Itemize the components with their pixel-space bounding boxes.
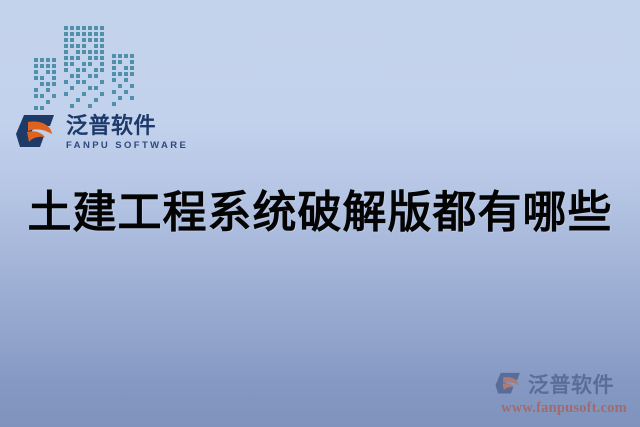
watermark-url: www.fanpusoft.com bbox=[494, 400, 634, 417]
fanpu-logo-mark-icon bbox=[14, 112, 60, 154]
promo-banner: 泛普软件 FANPU SOFTWARE 土建工程系统破解版都有哪些 泛普软件 w… bbox=[0, 0, 640, 427]
watermark: 泛普软件 www.fanpusoft.com bbox=[494, 369, 634, 417]
brand-name-en: FANPU SOFTWARE bbox=[66, 141, 188, 151]
pixel-building-skyline-icon bbox=[22, 14, 146, 114]
brand-name-cn: 泛普软件 bbox=[66, 115, 188, 137]
page-title: 土建工程系统破解版都有哪些 bbox=[0, 188, 640, 237]
fanpu-logo-mark-icon bbox=[494, 371, 524, 398]
brand-logo: 泛普软件 FANPU SOFTWARE bbox=[14, 112, 188, 154]
watermark-name: 泛普软件 bbox=[528, 369, 614, 399]
